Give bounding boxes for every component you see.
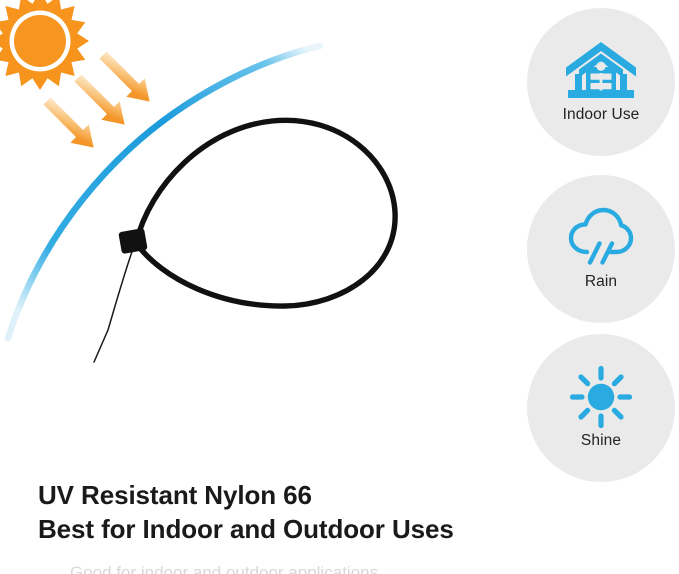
badge-shine[interactable]: Shine bbox=[527, 334, 675, 482]
feature-badge-list: Indoor Use Rain bbox=[527, 8, 675, 490]
sun-shine-icon bbox=[564, 365, 638, 429]
page-title: UV Resistant Nylon 66 Best for Indoor an… bbox=[38, 478, 498, 546]
badge-indoor-use[interactable]: Indoor Use bbox=[527, 8, 675, 156]
badge-label: Shine bbox=[581, 431, 621, 451]
rain-cloud-icon bbox=[564, 206, 638, 270]
badge-rain[interactable]: Rain bbox=[527, 175, 675, 323]
product-feature-graphic: UV Resistant Nylon 66 Best for Indoor an… bbox=[0, 0, 679, 574]
caption-line-2: Best for Indoor and Outdoor Uses bbox=[38, 512, 498, 546]
caption-line-1: UV Resistant Nylon 66 bbox=[38, 478, 498, 512]
clipped-bottom-note: Good for indoor and outdoor applications bbox=[70, 562, 490, 574]
badge-label: Rain bbox=[585, 272, 617, 292]
house-icon bbox=[564, 39, 638, 103]
uv-shield-arc-icon bbox=[8, 46, 320, 338]
sun-burst-icon bbox=[0, 0, 89, 90]
badge-label: Indoor Use bbox=[563, 105, 640, 125]
cable-tie-loop-icon bbox=[94, 120, 395, 362]
uv-resistant-cable-tie-illustration bbox=[0, 0, 520, 470]
